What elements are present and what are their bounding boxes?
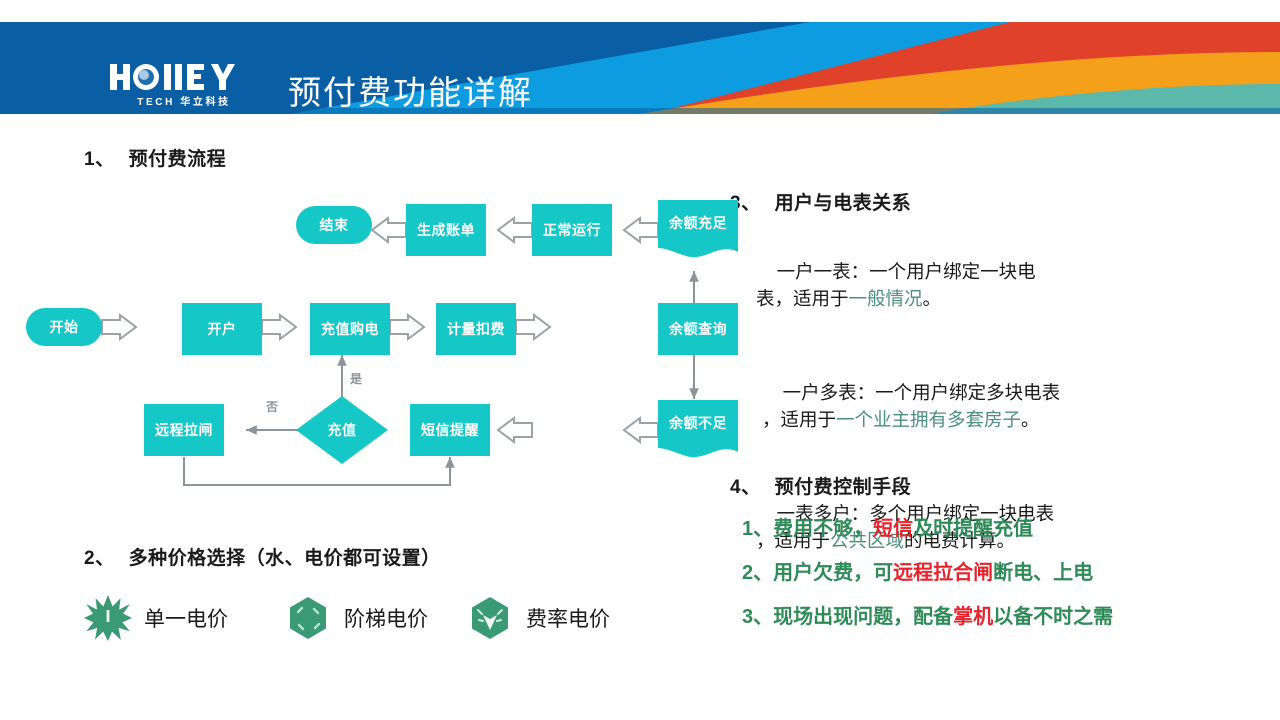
flow-node-sms-alert: 短信提醒 bbox=[410, 404, 490, 456]
control-item-text-a: 费用不够， bbox=[773, 518, 873, 540]
price-option-label: 单一电价 bbox=[144, 603, 228, 633]
flow-node-remote-cutoff: 远程拉闸 bbox=[144, 404, 224, 456]
starburst-icon bbox=[84, 594, 132, 642]
section-heading-2: 2、多种价格选择（水、电价都可设置） bbox=[84, 543, 441, 570]
flow-node-open-account: 开户 bbox=[182, 303, 262, 355]
flow-node-remote-cutoff-label: 远程拉闸 bbox=[155, 420, 213, 440]
flow-node-normal-run: 正常运行 bbox=[532, 204, 612, 256]
flow-node-bill-label: 生成账单 bbox=[417, 220, 475, 240]
prepaid-process-flowchart: 结束 生成账单 正常运行 余额充足 开始 开户 充值购电 计量扣费 余额查询 远… bbox=[80, 185, 700, 495]
flow-node-recharge-buy-label: 充值购电 bbox=[321, 319, 379, 339]
control-item-number: 3、 bbox=[742, 606, 773, 628]
flow-node-topup-decision: 充值 bbox=[296, 396, 388, 464]
flow-node-start: 开始 bbox=[26, 308, 102, 346]
control-item: 1、费用不够，短信及时提醒充值 bbox=[742, 518, 1212, 540]
flow-node-balance-query: 余额查询 bbox=[658, 303, 738, 355]
section-title-3: 用户与电表关系 bbox=[775, 193, 912, 214]
section-number-2: 2、 bbox=[84, 548, 115, 569]
section-heading-1: 1、预付费流程 bbox=[84, 144, 226, 171]
page-title: 预付费功能详解 bbox=[288, 66, 533, 114]
relation-item: 一户一表：一个用户绑定一块电 表，适用于一般情况。 bbox=[756, 232, 1206, 339]
section-title-1: 预付费流程 bbox=[129, 149, 227, 170]
hexagon-icon bbox=[466, 594, 514, 642]
control-item-text-b: 断电、上电 bbox=[993, 562, 1093, 584]
relation-text-highlight: 一般情况 bbox=[849, 288, 923, 309]
control-item: 2、用户欠费，可远程拉合闸断电、上电 bbox=[742, 562, 1212, 584]
flow-node-balance-enough: 余额充足 bbox=[658, 200, 738, 260]
section-title-2: 多种价格选择（水、电价都可设置） bbox=[129, 548, 441, 569]
price-options-row: 单一电价 阶梯电价 费率电价 bbox=[84, 590, 704, 650]
control-item-text-b: 及时提醒充值 bbox=[913, 518, 1033, 540]
flow-node-balance-query-label: 余额查询 bbox=[669, 319, 727, 339]
flow-node-end: 结束 bbox=[296, 206, 372, 244]
price-option-item[interactable]: 费率电价 bbox=[466, 590, 610, 646]
flow-node-normal-run-label: 正常运行 bbox=[543, 220, 601, 240]
control-item-highlight: 掌机 bbox=[953, 606, 993, 628]
flow-node-recharge-buy: 充值购电 bbox=[310, 303, 390, 355]
flow-node-balance-enough-label: 余额充足 bbox=[658, 213, 738, 233]
price-option-label: 费率电价 bbox=[526, 603, 610, 633]
price-option-item[interactable]: 阶梯电价 bbox=[284, 590, 428, 646]
flow-node-open-account-label: 开户 bbox=[208, 319, 237, 339]
flow-node-start-label: 开始 bbox=[50, 317, 79, 337]
holley-wordmark-icon bbox=[108, 60, 260, 94]
section-number-1: 1、 bbox=[84, 149, 115, 170]
section-heading-3: 3、用户与电表关系 bbox=[730, 188, 911, 215]
relation-text-highlight: 一个业主拥有多套房子 bbox=[836, 409, 1021, 430]
control-item-highlight: 短信 bbox=[873, 518, 913, 540]
flow-node-topup-decision-label: 充值 bbox=[296, 420, 388, 440]
flow-node-metering-deduct-label: 计量扣费 bbox=[447, 319, 505, 339]
hexagon-icon bbox=[284, 594, 332, 642]
flow-node-end-label: 结束 bbox=[320, 215, 349, 235]
control-item-highlight: 远程拉合闸 bbox=[893, 562, 993, 584]
logo-subline: TECH 华立科技 bbox=[108, 93, 260, 108]
slide-header: TECH 华立科技 预付费功能详解 bbox=[0, 22, 1280, 114]
relation-text-plain-b: 。 bbox=[923, 288, 942, 309]
control-item-text-b: 以备不时之需 bbox=[993, 606, 1113, 628]
edge-label-yes: 是 bbox=[350, 370, 362, 387]
flow-node-metering-deduct: 计量扣费 bbox=[436, 303, 516, 355]
control-measures-list: 1、费用不够，短信及时提醒充值 2、用户欠费，可远程拉合闸断电、上电 3、现场出… bbox=[742, 518, 1212, 650]
control-item-number: 2、 bbox=[742, 562, 773, 584]
control-item-text-a: 现场出现问题，配备 bbox=[773, 606, 953, 628]
flow-node-bill: 生成账单 bbox=[406, 204, 486, 256]
price-option-item[interactable]: 单一电价 bbox=[84, 590, 228, 646]
relation-item: 一户多表：一个用户绑定多块电表 ，适用于一个业主拥有多套房子。 bbox=[762, 353, 1206, 460]
control-item-number: 1、 bbox=[742, 518, 773, 540]
flow-node-sms-alert-label: 短信提醒 bbox=[421, 420, 479, 440]
relation-text-plain-b: 。 bbox=[1021, 409, 1040, 430]
price-option-label: 阶梯电价 bbox=[344, 603, 428, 633]
flow-node-balance-low: 余额不足 bbox=[658, 400, 738, 460]
control-item-text-a: 用户欠费，可 bbox=[773, 562, 893, 584]
control-item: 3、现场出现问题，配备掌机以备不时之需 bbox=[742, 606, 1212, 628]
edge-label-no: 否 bbox=[266, 398, 278, 415]
flow-node-balance-low-label: 余额不足 bbox=[658, 413, 738, 433]
company-logo: TECH 华立科技 bbox=[108, 60, 260, 112]
